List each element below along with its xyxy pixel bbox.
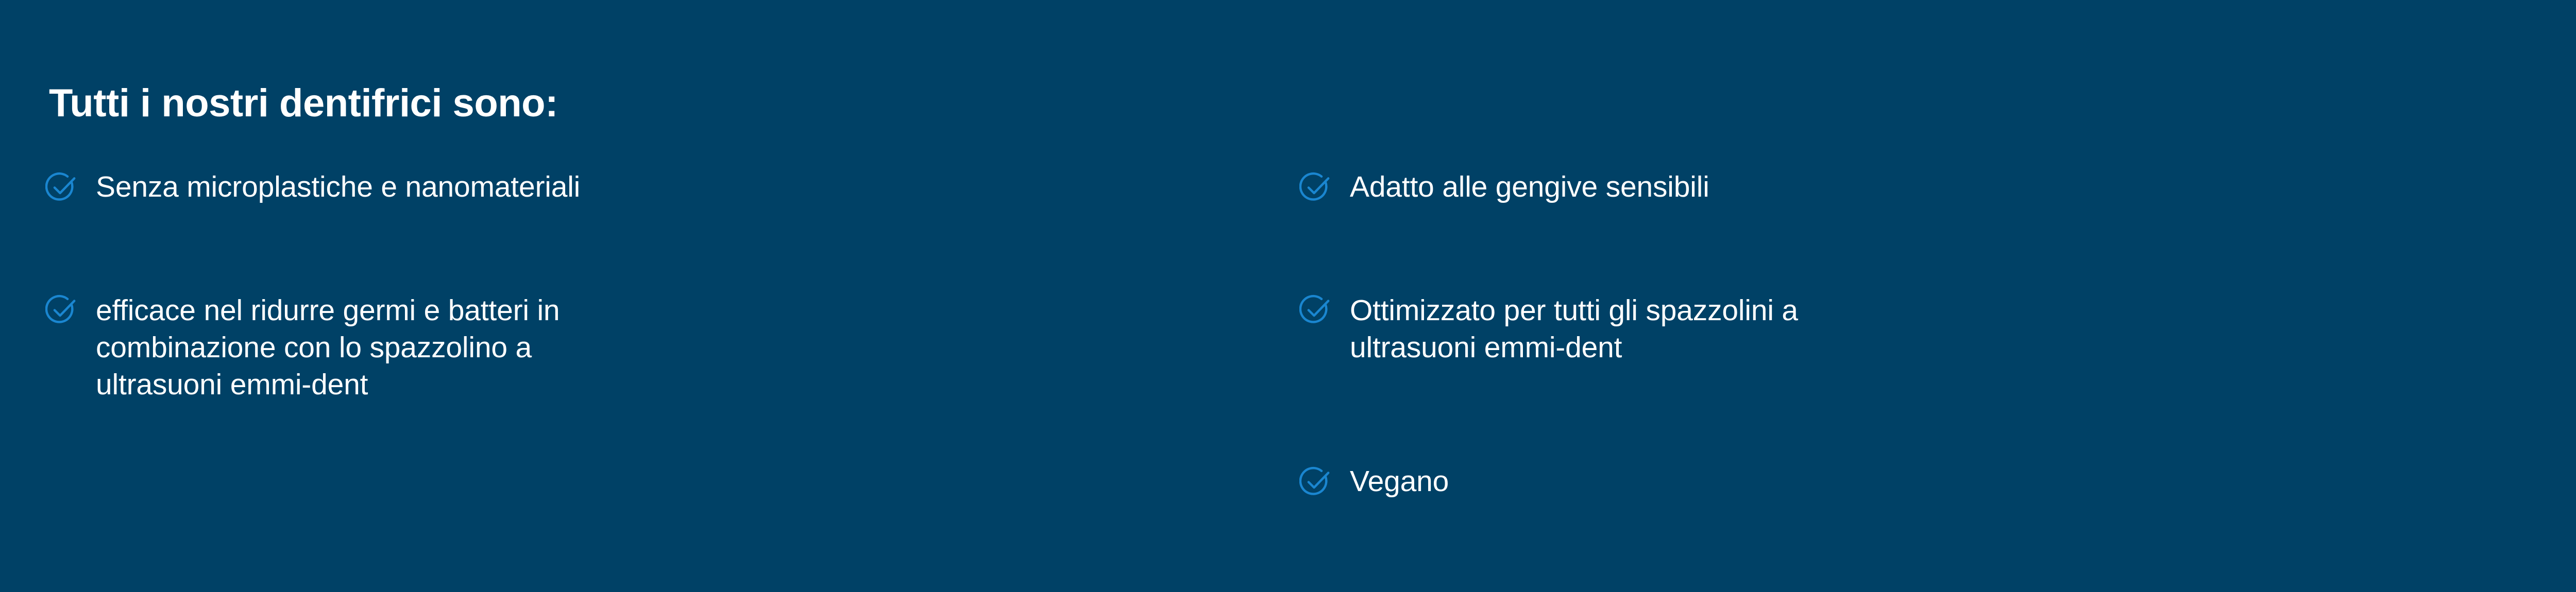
list-item-label: Vegano (1350, 463, 1449, 500)
check-circle-icon (1299, 293, 1331, 325)
list-item: Adatto alle gengive sensibili (1299, 170, 1709, 206)
list-item-label: efficace nel ridurre germi e batteri in … (96, 292, 560, 403)
check-circle-icon (1299, 465, 1331, 497)
list-item: Ottimizzato per tutti gli spazzolini a u… (1299, 292, 1798, 367)
check-circle-icon (45, 293, 77, 325)
list-item-label: Senza microplastiche e nanomateriali (96, 169, 580, 206)
list-item: efficace nel ridurre germi e batteri in … (45, 292, 560, 403)
list-item-label: Ottimizzato per tutti gli spazzolini a u… (1350, 292, 1798, 367)
page-title: Tutti i nostri dentifrici sono: (49, 83, 558, 124)
check-circle-icon (1299, 171, 1331, 203)
list-item: Senza microplastiche e nanomateriali (45, 170, 580, 206)
list-item: Vegano (1299, 464, 1449, 500)
list-item-label: Adatto alle gengive sensibili (1350, 169, 1709, 206)
feature-panel: Tutti i nostri dentifrici sono: Senza mi… (0, 0, 2576, 592)
check-circle-icon (45, 171, 77, 203)
